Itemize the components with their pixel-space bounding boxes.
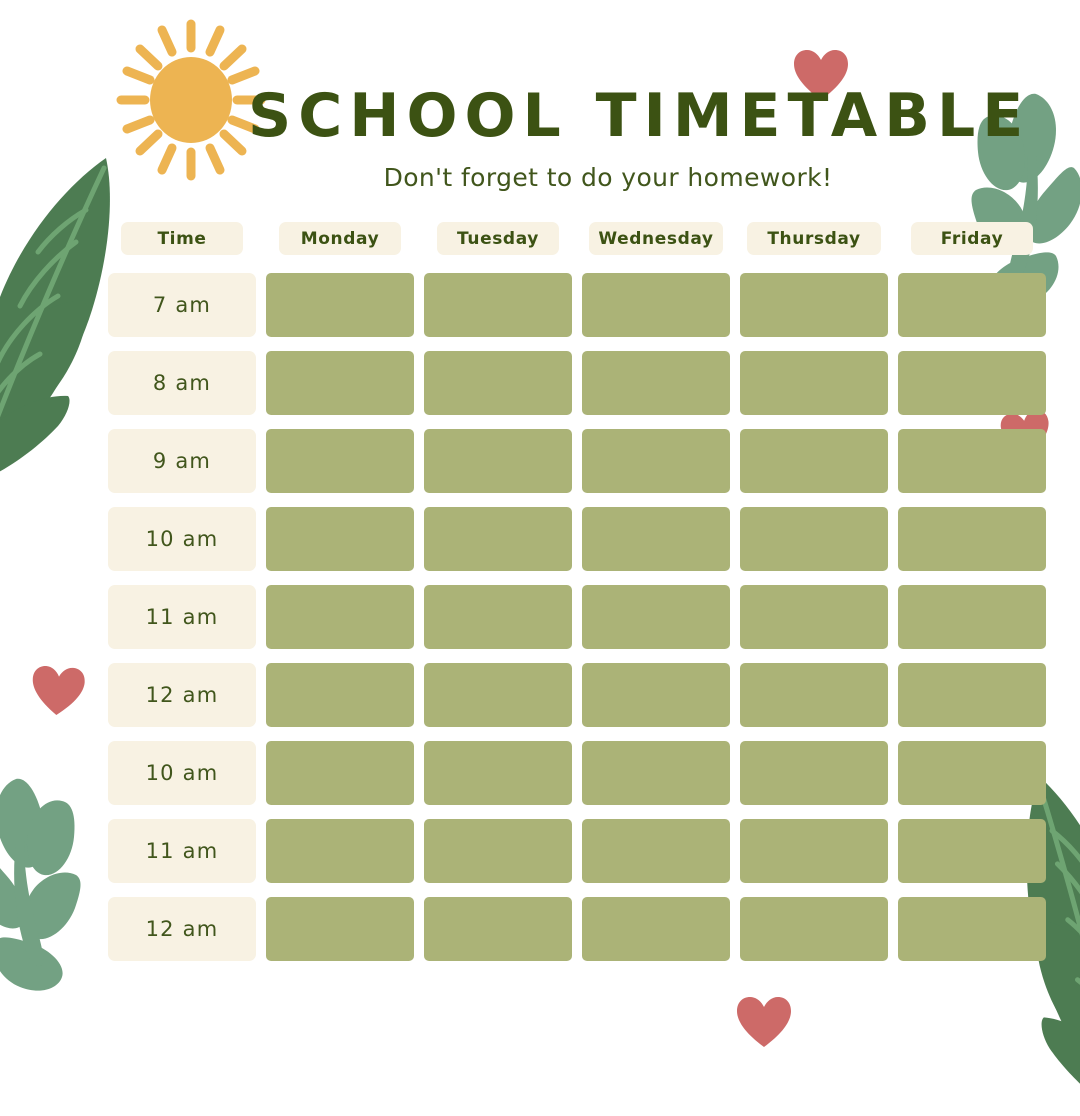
schedule-slot[interactable] — [582, 585, 730, 649]
timetable: TimeMondayTuesdayWednesdayThursdayFriday… — [108, 222, 986, 961]
time-label: 11 am — [108, 819, 256, 883]
time-label: 10 am — [108, 741, 256, 805]
schedule-slot[interactable] — [582, 429, 730, 493]
schedule-slot[interactable] — [266, 429, 414, 493]
schedule-slot[interactable] — [740, 351, 888, 415]
sprig-icon — [0, 745, 112, 995]
schedule-slot[interactable] — [740, 819, 888, 883]
schedule-slot[interactable] — [266, 351, 414, 415]
page-subtitle: Don't forget to do your homework! — [0, 163, 1080, 192]
time-label: 12 am — [108, 897, 256, 961]
page-title: SCHOOL TIMETABLE — [248, 86, 1030, 146]
schedule-slot[interactable] — [898, 663, 1046, 727]
schedule-slot[interactable] — [898, 273, 1046, 337]
schedule-slot[interactable] — [424, 351, 572, 415]
timetable-header-row: TimeMondayTuesdayWednesdayThursdayFriday — [108, 222, 986, 255]
schedule-slot[interactable] — [740, 507, 888, 571]
schedule-slot[interactable] — [740, 741, 888, 805]
page-header: SCHOOL TIMETABLE Don't forget to do your… — [0, 0, 1080, 210]
column-header-wednesday[interactable]: Wednesday — [589, 222, 723, 255]
schedule-slot[interactable] — [266, 741, 414, 805]
schedule-slot[interactable] — [582, 741, 730, 805]
column-header-thursday[interactable]: Thursday — [747, 222, 881, 255]
column-header-monday[interactable]: Monday — [279, 222, 401, 255]
time-label: 10 am — [108, 507, 256, 571]
schedule-slot[interactable] — [266, 663, 414, 727]
schedule-slot[interactable] — [740, 663, 888, 727]
schedule-slot[interactable] — [424, 585, 572, 649]
schedule-slot[interactable] — [266, 897, 414, 961]
schedule-slot[interactable] — [898, 429, 1046, 493]
schedule-slot[interactable] — [582, 819, 730, 883]
schedule-slot[interactable] — [582, 351, 730, 415]
time-label: 8 am — [108, 351, 256, 415]
schedule-slot[interactable] — [582, 897, 730, 961]
schedule-slot[interactable] — [266, 819, 414, 883]
time-label: 7 am — [108, 273, 256, 337]
time-label: 11 am — [108, 585, 256, 649]
schedule-slot[interactable] — [424, 273, 572, 337]
schedule-slot[interactable] — [898, 585, 1046, 649]
schedule-slot[interactable] — [740, 897, 888, 961]
schedule-slot[interactable] — [424, 819, 572, 883]
schedule-slot[interactable] — [582, 507, 730, 571]
schedule-slot[interactable] — [266, 273, 414, 337]
schedule-slot[interactable] — [740, 585, 888, 649]
schedule-slot[interactable] — [266, 585, 414, 649]
schedule-slot[interactable] — [898, 819, 1046, 883]
schedule-slot[interactable] — [424, 429, 572, 493]
time-label: 12 am — [108, 663, 256, 727]
time-label: 9 am — [108, 429, 256, 493]
schedule-slot[interactable] — [424, 663, 572, 727]
schedule-slot[interactable] — [740, 429, 888, 493]
schedule-slot[interactable] — [898, 507, 1046, 571]
schedule-slot[interactable] — [424, 507, 572, 571]
schedule-slot[interactable] — [424, 741, 572, 805]
column-header-friday[interactable]: Friday — [911, 222, 1033, 255]
schedule-slot[interactable] — [898, 897, 1046, 961]
column-header-tuesday[interactable]: Tuesday — [437, 222, 559, 255]
column-header-time[interactable]: Time — [121, 222, 243, 255]
timetable-body: 7 am8 am9 am10 am11 am12 am10 am11 am12 … — [108, 273, 986, 961]
schedule-slot[interactable] — [898, 351, 1046, 415]
schedule-slot[interactable] — [424, 897, 572, 961]
heart-icon — [735, 995, 793, 1049]
schedule-slot[interactable] — [582, 273, 730, 337]
schedule-slot[interactable] — [740, 273, 888, 337]
heart-icon — [30, 665, 86, 717]
schedule-slot[interactable] — [582, 663, 730, 727]
schedule-slot[interactable] — [266, 507, 414, 571]
schedule-slot[interactable] — [898, 741, 1046, 805]
